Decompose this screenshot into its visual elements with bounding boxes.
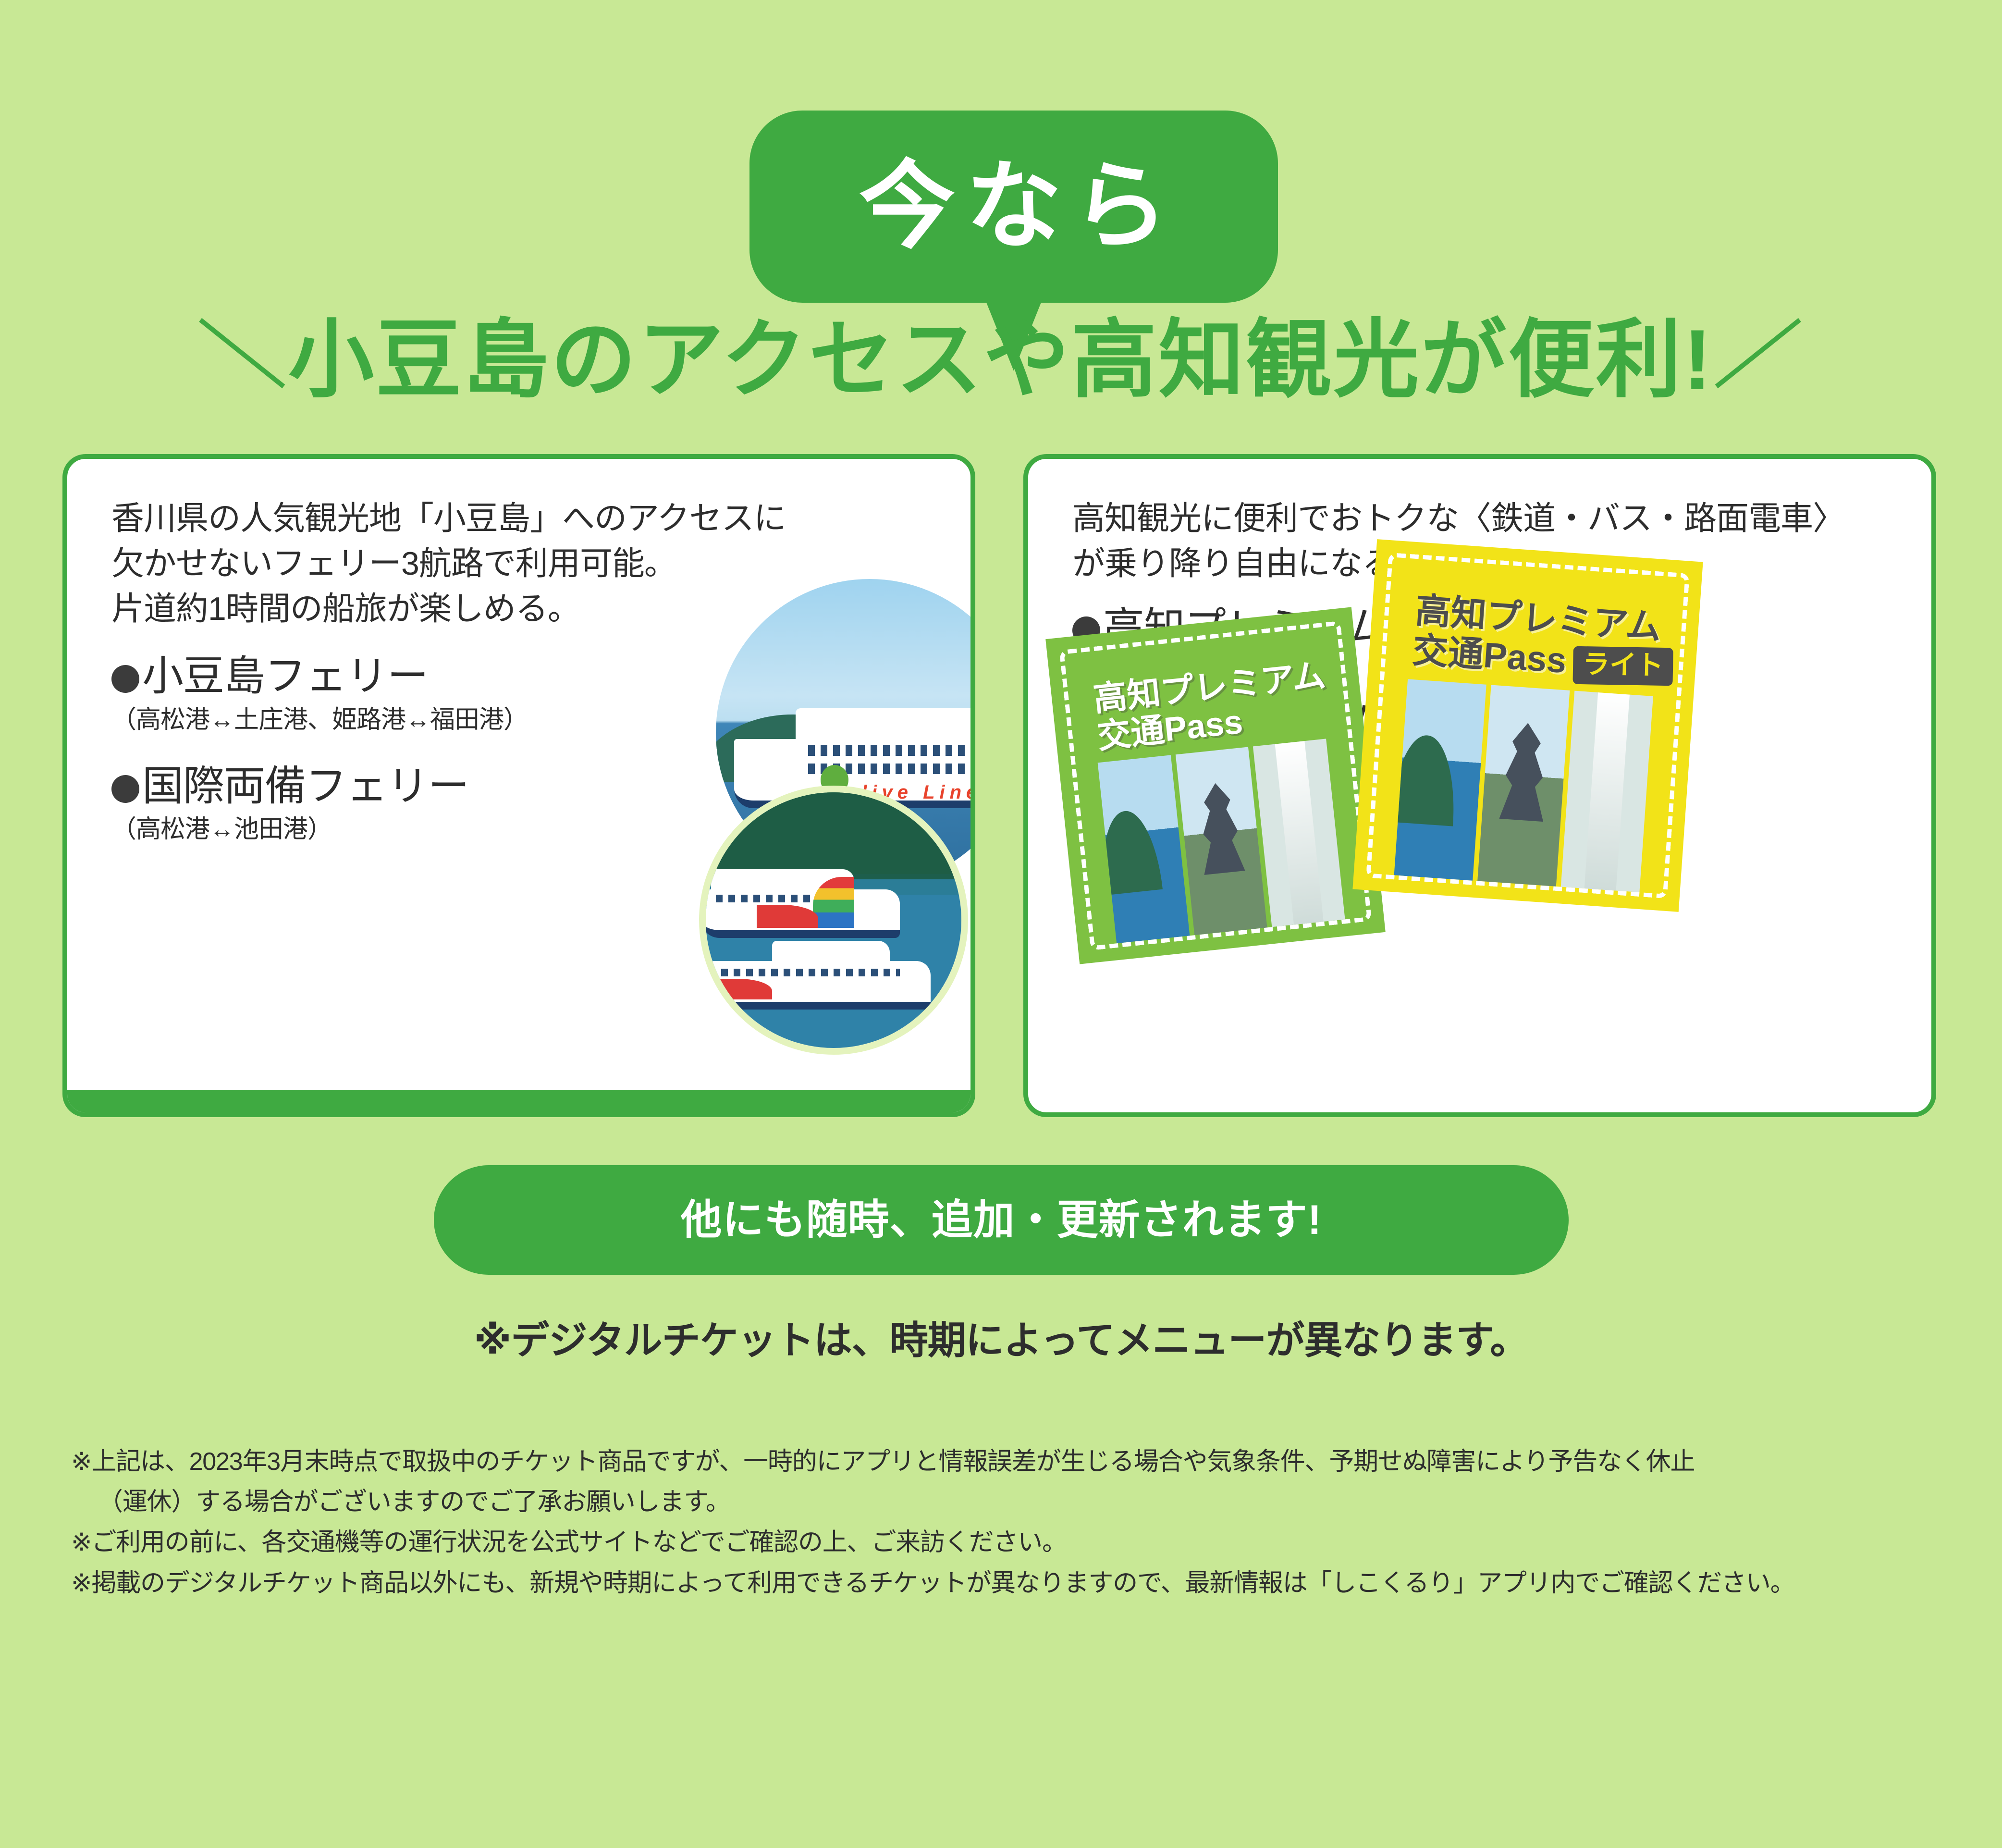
more-updates-label: 他にも随時、追加・更新されます! <box>681 1199 1322 1241</box>
ship-windows-shape <box>808 745 975 756</box>
kochi-premium-pass-lite-ticket: 高知プレミアム 交通Passライト <box>1352 539 1703 912</box>
footnote-line-1: ※上記は、2023年3月末時点で取扱中のチケット商品ですが、一時的にアプリと情報… <box>71 1441 1945 1482</box>
kochi-premium-pass-ticket-title: 高知プレミアム 交通Pass <box>1092 656 1331 756</box>
coast-photo <box>1394 679 1486 881</box>
kochi-castle-photo <box>1477 685 1570 887</box>
kochi-premium-pass-lite-ticket-title: 高知プレミアム 交通Passライト <box>1411 591 1677 688</box>
digital-ticket-notice: ※デジタルチケットは、時期によってメニューが異なります。 <box>0 1309 2002 1365</box>
bullet-dot-icon <box>111 665 139 693</box>
hill-shape <box>699 786 968 874</box>
waterfall-photo <box>1561 690 1653 892</box>
lite-badge: ライト <box>1572 646 1673 686</box>
ticket-inner-frame: 高知プレミアム 交通Passライト <box>1366 553 1690 899</box>
ship-deck-shape <box>772 941 890 966</box>
footnotes: ※上記は、2023年3月末時点で取扱中のチケット商品ですが、一時的にアプリと情報… <box>71 1441 1945 1603</box>
promo-speech-bubble: 今なら <box>749 111 1278 303</box>
speech-bubble-label: 今なら <box>848 159 1179 255</box>
kochi-pass-card: 高知観光に便利でおトクな〈鉄道・バス・路面電車〉 が乗り降り自由になる! 高知プ… <box>1023 454 1936 1117</box>
ticket-inner-frame: 高知プレミアム 交通Pass <box>1059 621 1372 950</box>
waterfall-photo <box>1253 739 1345 927</box>
more-updates-banner: 他にも随時、追加・更新されます! <box>434 1165 1569 1275</box>
page-title: ＼小豆島のアクセスや高知観光が便利!／ <box>0 317 2002 403</box>
footnote-line-2: ※ご利用の前に、各交通機等の運行状況を公式サイトなどでご確認の上、ご来訪ください… <box>71 1522 1945 1563</box>
kochi-premium-pass-ticket: 高知プレミアム 交通Pass <box>1045 607 1386 964</box>
ship-deck-shape <box>796 708 975 745</box>
headline-slash-left-icon: ＼ <box>190 320 297 392</box>
ticket-photo-strip <box>1394 679 1653 892</box>
feature-cards-row: 香川県の人気観光地「小豆島」へのアクセスに 欠かせないフェリー3航路で利用可能。… <box>62 454 1936 1117</box>
footnote-line-3: ※掲載のデジタルチケット商品以外にも、新規や時期によって利用できるチケットが異な… <box>71 1563 1945 1603</box>
ryobi-ferry-title-label: 国際両備フェリー <box>142 763 469 809</box>
footnote-line-1-continued: （運休）する場合がございますのでご了承お願いします。 <box>71 1482 1945 1522</box>
coast-photo <box>1097 755 1190 943</box>
shodoshima-ferry-card: 香川県の人気観光地「小豆島」へのアクセスに 欠かせないフェリー3航路で利用可能。… <box>62 454 975 1117</box>
ship-windows-shape <box>721 969 900 976</box>
speech-bubble-body: 今なら <box>749 111 1278 303</box>
headline-text: 小豆島のアクセスや高知観光が便利! <box>288 312 1713 407</box>
headline-slash-right-icon: ／ <box>1705 320 1812 392</box>
shodoshima-ferry-title-label: 小豆島フェリー <box>142 653 428 699</box>
card-bottom-band <box>67 1090 970 1112</box>
bullet-dot-icon <box>111 775 139 803</box>
kochi-castle-photo <box>1175 747 1267 935</box>
ticket-photo-strip <box>1097 739 1345 943</box>
ryobi-ferries-photo <box>699 786 968 1055</box>
